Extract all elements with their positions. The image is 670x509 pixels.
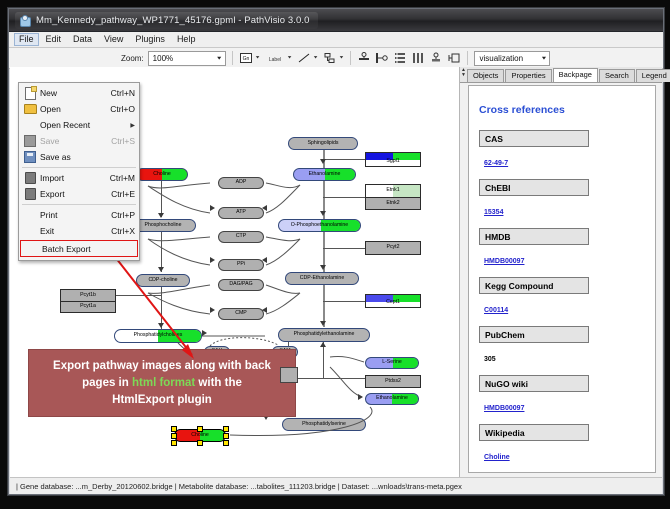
- node-cdp-ethanolamine[interactable]: CDP-Ethanolamine: [285, 272, 359, 285]
- distribute-icon[interactable]: [411, 51, 425, 65]
- menu-edit[interactable]: Edit: [41, 33, 67, 46]
- arrow-to-cmp: [210, 307, 215, 313]
- node-ppi[interactable]: PPi: [218, 259, 264, 271]
- menu-item-exit[interactable]: Exit Ctrl+X: [19, 223, 139, 239]
- menu-bar: File Edit Data View Plugins Help: [9, 32, 663, 48]
- menu-data[interactable]: Data: [68, 33, 97, 46]
- menu-item-save-as[interactable]: Save as: [19, 149, 139, 165]
- node-cdp-choline[interactable]: CDP-choline: [136, 274, 190, 287]
- xref-label-kegg: Kegg Compound: [479, 277, 589, 294]
- menu-help[interactable]: Help: [172, 33, 201, 46]
- selection-handle[interactable]: [223, 426, 229, 432]
- title-bar-inner: Mm_Kennedy_pathway_WP1771_45176.gpml - P…: [15, 12, 318, 29]
- menu-item-import[interactable]: Import Ctrl+M: [19, 170, 139, 186]
- selection-handle[interactable]: [223, 440, 229, 446]
- blank-icon-3: [23, 225, 37, 238]
- blank-icon-2: [23, 209, 37, 222]
- node-pcyt2[interactable]: Pcyt2: [365, 241, 421, 255]
- arrow-ps-pe: [320, 342, 326, 347]
- annotation-highlight: html format: [132, 377, 195, 389]
- save-icon: [23, 135, 37, 148]
- node-connector-block[interactable]: [280, 367, 298, 383]
- menu-item-save: Save Ctrl+S: [19, 133, 139, 149]
- edge-cept1-link: [323, 301, 367, 302]
- submenu-arrow-icon: ▶: [130, 122, 135, 129]
- arrow-sphingolipids-ethanolamine: [320, 159, 326, 164]
- node-ethanolamine-right[interactable]: Ethanolamine: [365, 393, 419, 405]
- arrow-cdpe-pe: [320, 321, 326, 326]
- node-ptdss2[interactable]: Ptdss2: [365, 375, 421, 388]
- sidebar-panel: ▲ ▼ Objects Properties Backpage Search L…: [460, 67, 662, 477]
- toolbar-separator: [232, 51, 233, 65]
- selection-handle[interactable]: [197, 426, 203, 432]
- svg-text:Gn: Gn: [242, 56, 249, 62]
- arrow-ethanolamine-ope: [320, 211, 326, 216]
- node-adp[interactable]: ADP: [218, 177, 264, 189]
- new-file-icon: [23, 87, 37, 100]
- selection-handle[interactable]: [171, 433, 177, 439]
- align-stack-icon[interactable]: [393, 51, 407, 65]
- edge-phosphocholine-cdpcholine: [161, 232, 162, 272]
- xref-label-chebi: ChEBI: [479, 179, 589, 196]
- pathvisio-icon: [19, 15, 31, 27]
- datanode-icon[interactable]: Gn: [239, 51, 253, 65]
- selection-handle[interactable]: [171, 440, 177, 446]
- xref-value-hmdb[interactable]: HMDB00097: [484, 258, 524, 265]
- node-sphingolipids[interactable]: Sphingolipids: [288, 137, 358, 150]
- blank-icon: [23, 119, 37, 132]
- zoom-label: Zoom:: [121, 54, 144, 63]
- xref-value-chebi[interactable]: 15354: [484, 209, 503, 216]
- menu-item-print[interactable]: Print Ctrl+P: [19, 207, 139, 223]
- xref-value-cas[interactable]: 62-49-7: [484, 160, 508, 167]
- annotation-banner: Export pathway images along with back pa…: [28, 349, 296, 417]
- node-atp[interactable]: ATP: [218, 207, 264, 219]
- arrow-to-ppi: [210, 257, 215, 263]
- node-dag-pag[interactable]: DAG/PAG: [218, 279, 264, 291]
- line-dropdown-icon[interactable]: ▼: [313, 56, 319, 60]
- interaction-dropdown-icon[interactable]: ▼: [339, 56, 345, 60]
- annotation-line-2a: pages in: [82, 377, 132, 389]
- xref-value-nugo[interactable]: HMDB00097: [484, 405, 524, 412]
- arrow-cdpcholine-pc: [158, 323, 164, 328]
- annotation-line-2b: with the: [195, 377, 242, 389]
- node-o-phosphoethanolamine[interactable]: O-Phosphoethanolamine: [278, 219, 361, 232]
- xref-label-wikipedia: Wikipedia: [479, 424, 589, 441]
- title-bar: Mm_Kennedy_pathway_WP1771_45176.gpml - P…: [9, 9, 663, 32]
- node-etnk1[interactable]: Etnk1: [365, 184, 421, 197]
- menu-item-batch-export[interactable]: Batch Export: [20, 240, 138, 257]
- file-menu-dropdown[interactable]: New Ctrl+N Open Ctrl+O Open Recent ▶ Sav…: [18, 82, 140, 261]
- tab-legend[interactable]: Legend: [636, 69, 670, 82]
- tab-backpage[interactable]: Backpage: [553, 68, 598, 82]
- toolbar: Zoom: 100% ▼ Gn ▼ Label ▼ ▼ ▼: [9, 48, 663, 69]
- window-title: Mm_Kennedy_pathway_WP1771_45176.gpml - P…: [36, 15, 310, 26]
- tab-properties[interactable]: Properties: [505, 69, 551, 82]
- visualization-combo[interactable]: visualization ▼: [474, 51, 550, 66]
- xref-value-wikipedia[interactable]: Choline: [484, 454, 510, 461]
- menu-item-open-recent[interactable]: Open Recent ▶: [19, 117, 139, 133]
- menu-view[interactable]: View: [99, 33, 128, 46]
- selection-handle[interactable]: [171, 426, 177, 432]
- edge-sgpl1-link: [323, 159, 367, 160]
- node-ethanolamine-top[interactable]: Ethanolamine: [293, 168, 356, 181]
- node-cept1[interactable]: Cept1: [365, 294, 421, 308]
- annotation-line-1: Export pathway images along with back: [53, 358, 271, 375]
- toolbar-separator-3: [467, 51, 468, 65]
- arrow-to-ppi-right: [262, 257, 267, 263]
- arrow-to-atp-right: [262, 205, 267, 211]
- xref-label-cas: CAS: [479, 130, 589, 147]
- datanode-dropdown-icon[interactable]: ▼: [255, 56, 261, 60]
- node-ctp[interactable]: CTP: [218, 231, 264, 243]
- xref-label-hmdb: HMDB: [479, 228, 589, 245]
- status-bar: | Gene database: ...m_Derby_20120602.bri…: [10, 477, 662, 494]
- node-phosphatidylserine[interactable]: Phosphatidylserine: [282, 418, 366, 431]
- node-sgpl1[interactable]: Sgpl1: [365, 152, 421, 167]
- node-l-serine[interactable]: L-Serine: [365, 357, 419, 369]
- label-button[interactable]: Label: [265, 51, 285, 65]
- align-top-icon[interactable]: [357, 51, 371, 65]
- node-pcyt1b[interactable]: Pcyt1b: [60, 289, 116, 301]
- tab-objects[interactable]: Objects: [467, 69, 504, 82]
- arrow-choline-phosphocholine: [158, 213, 164, 218]
- label-dropdown-icon[interactable]: ▼: [287, 56, 293, 60]
- edge-etnk-link: [323, 197, 367, 198]
- xref-value-kegg[interactable]: C00114: [484, 307, 508, 314]
- scroll-down-icon: ▼: [461, 73, 466, 78]
- node-phosphatidylethanolamine[interactable]: Phosphatidylethanolamine: [278, 328, 370, 342]
- blank-icon-4: [25, 242, 39, 255]
- menu-plugins[interactable]: Plugins: [130, 33, 170, 46]
- arrow-ope-cdpe: [320, 265, 326, 270]
- xref-label-pubchem: PubChem: [479, 326, 589, 343]
- menu-file[interactable]: File: [14, 33, 39, 46]
- xref-value-pubchem: 305: [484, 356, 496, 363]
- group-icon[interactable]: [429, 51, 443, 65]
- toolbar-separator-2: [350, 51, 351, 65]
- zoom-combo[interactable]: 100% ▼: [148, 51, 226, 66]
- interaction-icon[interactable]: [323, 51, 337, 65]
- tab-search[interactable]: Search: [599, 69, 635, 82]
- annotation-line-3: HtmlExport plugin: [112, 392, 212, 409]
- node-pcyt1a[interactable]: Pcyt1a: [60, 301, 116, 313]
- xref-label-nugo: NuGO wiki: [479, 375, 589, 392]
- edge-ps-pe-up: [323, 342, 324, 378]
- chevron-down-icon: ▼: [216, 56, 223, 61]
- status-text: | Gene database: ...m_Derby_20120602.bri…: [10, 482, 462, 491]
- visualization-value: visualization: [479, 54, 523, 63]
- chevron-down-icon-2: ▼: [541, 56, 548, 61]
- menu-separator-1: [22, 167, 136, 168]
- node-cmp[interactable]: CMP: [218, 308, 264, 320]
- cross-references-heading: Cross references: [479, 104, 645, 116]
- arrow-pc-to-pe: [202, 330, 207, 336]
- arrow-to-atp: [210, 205, 215, 211]
- node-choline-top[interactable]: Choline: [136, 168, 188, 181]
- sidebar-tabs: Objects Properties Backpage Search Legen…: [460, 67, 662, 83]
- backpage-content[interactable]: Cross references CAS 62-49-7 ChEBI 15354…: [468, 85, 656, 473]
- save-as-icon: [23, 151, 37, 164]
- annotation-line-2: pages in html format with the: [82, 375, 242, 392]
- zoom-value: 100%: [153, 54, 173, 63]
- menu-item-new[interactable]: New Ctrl+N: [19, 85, 139, 101]
- edge-choline-phosphocholine: [161, 181, 162, 217]
- menu-separator-2: [22, 204, 136, 205]
- open-folder-icon: [23, 103, 37, 116]
- arrow-to-cmp-right: [262, 307, 267, 313]
- svg-text:Label: Label: [269, 57, 281, 63]
- import-icon: [23, 172, 37, 185]
- selection-handle[interactable]: [197, 440, 203, 446]
- node-phosphatidylcholines[interactable]: Phosphatidylcholines: [114, 329, 202, 343]
- edge-pcyt1-link: [116, 295, 162, 296]
- edge-pcyt2-link: [323, 248, 367, 249]
- tab-scroll-arrows[interactable]: ▲ ▼: [461, 68, 466, 81]
- app-root: Mm_Kennedy_pathway_WP1771_45176.gpml - P…: [0, 0, 670, 509]
- order-icon[interactable]: [447, 51, 461, 65]
- menu-item-export[interactable]: Export Ctrl+E: [19, 186, 139, 202]
- node-etnk2[interactable]: Etnk2: [365, 197, 421, 210]
- arrow-to-ethanolamine-right: [358, 394, 363, 400]
- arrow-phosphocholine-cdpcholine: [158, 267, 164, 272]
- export-icon: [23, 188, 37, 201]
- align-left-icon[interactable]: [375, 51, 389, 65]
- application-window: Mm_Kennedy_pathway_WP1771_45176.gpml - P…: [8, 8, 664, 495]
- selection-handle[interactable]: [223, 433, 229, 439]
- menu-item-open[interactable]: Open Ctrl+O: [19, 101, 139, 117]
- line-icon[interactable]: [297, 51, 311, 65]
